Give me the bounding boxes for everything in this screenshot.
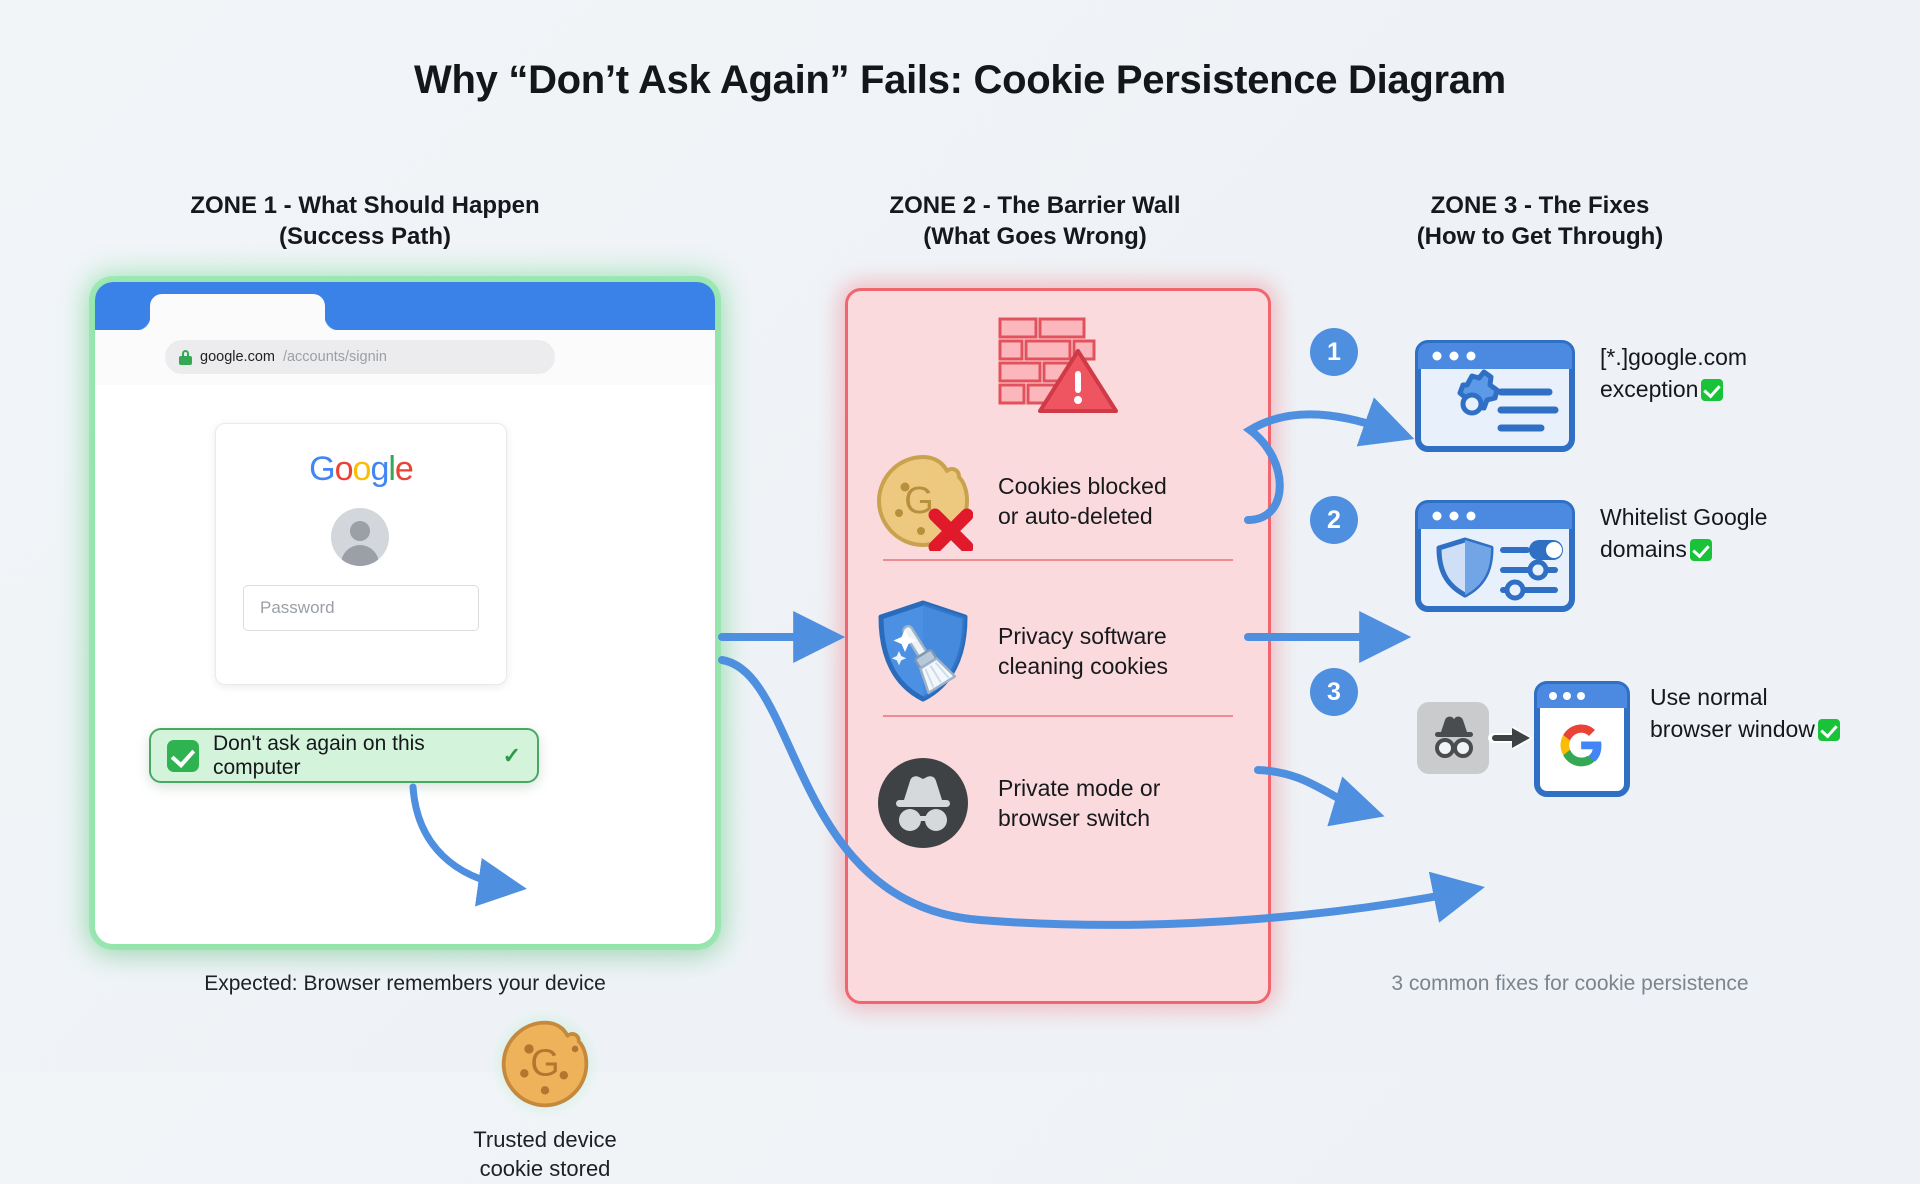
barrier-2-line1: Privacy software: [998, 621, 1168, 651]
fix-item-3: 3: [1290, 700, 1850, 840]
browser-titlebar: [95, 282, 715, 330]
google-cookie-icon: G: [498, 1017, 592, 1111]
browser-tab[interactable]: [150, 294, 325, 330]
zone2-heading-line2: (What Goes Wrong): [790, 221, 1280, 252]
arrow-checkbox-to-cookie: [395, 775, 615, 925]
google-wordmark: Google: [216, 450, 506, 489]
user-avatar-icon: [331, 508, 389, 566]
barrier-divider: [883, 715, 1233, 717]
zone3-heading-line1: ZONE 3 - The Fixes: [1431, 192, 1650, 219]
barrier-item-1: G Cookies blocked or auto-deleted: [848, 441, 1268, 561]
lock-icon: [179, 350, 192, 365]
barrier-2-line2: cleaning cookies: [998, 651, 1168, 681]
wordmark-letter: o: [335, 450, 353, 488]
fix-2-label: Whitelist Google domains: [1600, 502, 1900, 565]
fix-3-line2: browser window: [1650, 716, 1815, 742]
fix-1-label: [*.]google.com exception: [1600, 342, 1900, 405]
shield-broom-icon: [848, 599, 998, 703]
trusted-device-caption: Trusted device cookie stored: [425, 1125, 665, 1184]
url-domain: google.com: [200, 349, 275, 365]
zone1-browser-mock: google.com/accounts/signin Google Passwo…: [95, 282, 715, 944]
zone1-heading-line2: (Success Path): [120, 221, 610, 252]
barrier-item-1-text: Cookies blocked or auto-deleted: [998, 471, 1167, 532]
check-green-icon: [1701, 379, 1723, 401]
browser-toolbar: google.com/accounts/signin: [95, 330, 715, 386]
fix-1-line1: [*.]google.com: [1600, 342, 1900, 374]
shield-toggles-window-icon: [1415, 500, 1575, 612]
barrier-1-line1: Cookies blocked: [998, 471, 1167, 501]
incognito-icon: [848, 754, 998, 852]
check-mark-icon: ✓: [503, 743, 521, 769]
page-title: Why “Don’t Ask Again” Fails: Cookie Pers…: [0, 58, 1920, 103]
zone1-footer-caption: Expected: Browser remembers your device: [95, 972, 715, 996]
barrier-3-line1: Private mode or: [998, 773, 1160, 803]
settings-window-icon: [1415, 340, 1575, 452]
wordmark-letter: G: [309, 450, 334, 488]
google-signin-card: Google Password: [215, 423, 507, 685]
barrier-item-3-text: Private mode or browser switch: [998, 773, 1160, 834]
check-green-icon: [1818, 719, 1840, 741]
checkbox-checked-icon[interactable]: [167, 740, 199, 772]
zone2-heading: ZONE 2 - The Barrier Wall (What Goes Wro…: [790, 190, 1280, 252]
url-path: /accounts/signin: [283, 349, 387, 365]
fix-3-label: Use normal browser window: [1650, 682, 1920, 745]
fix-1-number-badge: 1: [1310, 328, 1358, 376]
fix-3-line1: Use normal: [1650, 682, 1920, 714]
check-green-icon: [1690, 539, 1712, 561]
zone2-heading-line1: ZONE 2 - The Barrier Wall: [889, 192, 1180, 219]
fix-1-line2: exception: [1600, 376, 1698, 402]
incognito-to-google-window-icon: [1415, 680, 1630, 798]
zone1-heading-line1: ZONE 1 - What Should Happen: [190, 192, 539, 219]
zone3-heading-line2: (How to Get Through): [1270, 221, 1810, 252]
fix-2-line2: domains: [1600, 536, 1687, 562]
password-field[interactable]: Password: [243, 585, 479, 631]
barrier-item-3: Private mode or browser switch: [848, 743, 1268, 863]
zone3-footer-caption: 3 common fixes for cookie persistence: [1280, 972, 1860, 996]
wordmark-letter: e: [395, 450, 413, 488]
url-bar[interactable]: google.com/accounts/signin: [165, 340, 555, 374]
zone2-barrier-panel: G Cookies blocked or auto-deleted: [845, 288, 1271, 1004]
zone1-heading: ZONE 1 - What Should Happen (Success Pat…: [120, 190, 610, 252]
wordmark-letter: g: [370, 450, 388, 488]
zone3-heading: ZONE 3 - The Fixes (How to Get Through): [1270, 190, 1810, 252]
cookie-blocked-icon: G: [848, 451, 998, 551]
fix-2-line1: Whitelist Google: [1600, 502, 1900, 534]
barrier-item-2: Privacy software cleaning cookies: [848, 591, 1268, 711]
barrier-divider: [883, 559, 1233, 561]
trusted-caption-line1: Trusted device: [425, 1125, 665, 1154]
svg-text:G: G: [530, 1041, 559, 1083]
diagram-canvas: Why “Don’t Ask Again” Fails: Cookie Pers…: [0, 0, 1920, 1072]
trusted-caption-line2: cookie stored: [425, 1154, 665, 1183]
fix-item-1: 1 [*.]google.com exception: [1290, 360, 1850, 500]
fix-2-number-badge: 2: [1310, 496, 1358, 544]
barrier-3-line2: browser switch: [998, 803, 1160, 833]
wordmark-letter: o: [353, 450, 371, 488]
checkbox-label: Don't ask again on this computer: [213, 732, 489, 780]
browser-viewport: Google Password Don't ask again on this …: [95, 385, 715, 944]
barrier-item-2-text: Privacy software cleaning cookies: [998, 621, 1168, 682]
brick-wall-warning-icon: [996, 313, 1122, 421]
fix-item-2: 2 Whitelist Google domains: [1290, 520, 1850, 660]
barrier-1-line2: or auto-deleted: [998, 501, 1167, 531]
fix-3-number-badge: 3: [1310, 668, 1358, 716]
